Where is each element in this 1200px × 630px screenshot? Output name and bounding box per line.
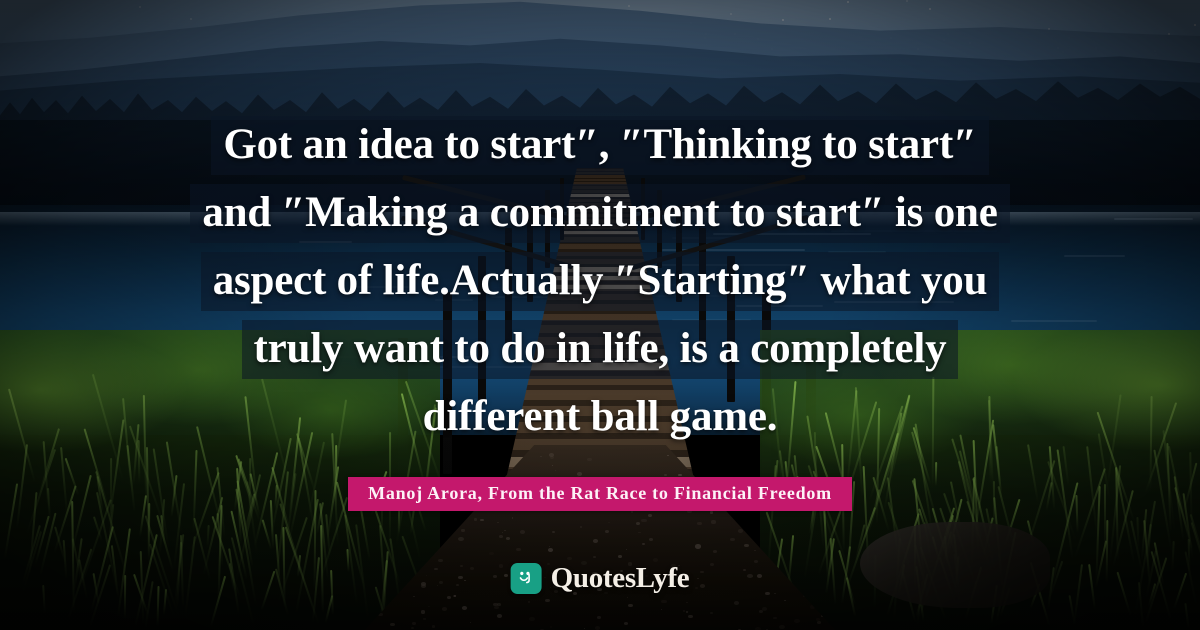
brand-name: QuotesLyfe — [551, 562, 690, 595]
brand-logo[interactable]: QuotesLyfe — [511, 562, 690, 595]
attribution-badge: Manoj Arora, From the Rat Race to Financ… — [348, 477, 852, 511]
quote-line-4: truly want to do in life, is a completel… — [242, 320, 959, 379]
quote-line-5: different ball game. — [411, 388, 790, 447]
quote-line-3: aspect of life.Actually ″Starting″ what … — [201, 252, 1000, 311]
quote-line-2: and ″Making a commitment to start″ is on… — [190, 184, 1009, 243]
card-content: Got an idea to start″, ″Thinking to star… — [0, 0, 1200, 630]
quote-card: Got an idea to start″, ″Thinking to star… — [0, 0, 1200, 630]
quote-smiley-icon — [511, 563, 542, 594]
quote-line-1: Got an idea to start″, ″Thinking to star… — [211, 116, 988, 175]
quote-text: Got an idea to start″, ″Thinking to star… — [0, 116, 1200, 456]
